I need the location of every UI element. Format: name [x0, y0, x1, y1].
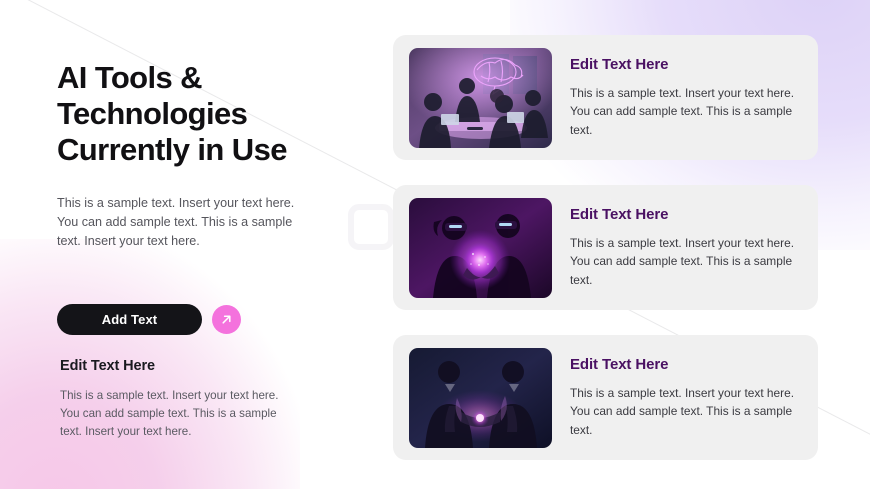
left-sub-block: Edit Text Here This is a sample text. In… — [60, 358, 290, 441]
feature-card[interactable]: Edit Text Here This is a sample text. In… — [393, 335, 818, 460]
sub-section-title: Edit Text Here — [60, 358, 290, 374]
business-handshake-glowing-light-image — [409, 348, 552, 448]
team-meeting-brain-hologram-image — [409, 48, 552, 148]
lead-paragraph: This is a sample text. Insert your text … — [57, 194, 297, 252]
feature-card[interactable]: Edit Text Here This is a sample text. In… — [393, 35, 818, 160]
feature-card[interactable]: Edit Text Here This is a sample text. In… — [393, 185, 818, 310]
feature-card-body: Edit Text Here This is a sample text. In… — [570, 56, 802, 140]
vr-headset-pair-glowing-orb-image — [409, 198, 552, 298]
arrow-up-right-icon — [219, 312, 234, 327]
feature-card-title: Edit Text Here — [570, 356, 796, 373]
feature-card-list: Edit Text Here This is a sample text. In… — [393, 35, 818, 460]
slide-canvas: Sli AI Tools & Technologies Currently in… — [0, 0, 870, 489]
add-text-button[interactable]: Add Text — [57, 304, 202, 335]
feature-card-text: This is a sample text. Insert your text … — [570, 234, 796, 290]
feature-card-text: This is a sample text. Insert your text … — [570, 84, 796, 140]
feature-card-body: Edit Text Here This is a sample text. In… — [570, 356, 802, 440]
feature-card-title: Edit Text Here — [570, 56, 796, 73]
left-content-column: AI Tools & Technologies Currently in Use… — [57, 60, 362, 252]
feature-card-text: This is a sample text. Insert your text … — [570, 384, 796, 440]
feature-card-title: Edit Text Here — [570, 206, 796, 223]
page-title: AI Tools & Technologies Currently in Use — [57, 60, 362, 168]
arrow-up-right-button[interactable] — [212, 305, 241, 334]
cta-row: Add Text — [57, 304, 241, 335]
sub-section-text: This is a sample text. Insert your text … — [60, 387, 290, 441]
feature-card-body: Edit Text Here This is a sample text. In… — [570, 206, 802, 290]
